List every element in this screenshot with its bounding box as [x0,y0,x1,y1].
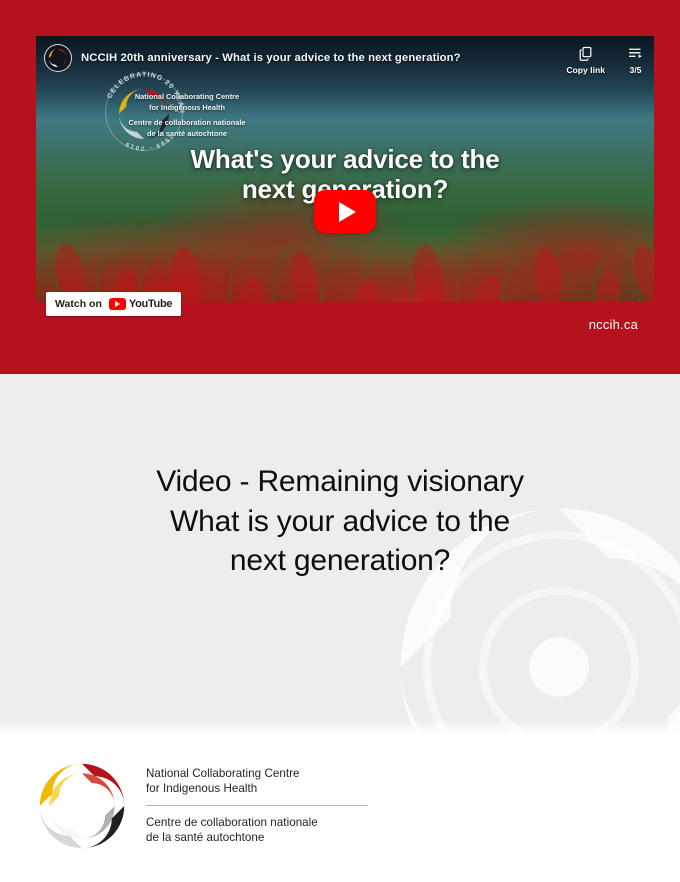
youtube-video-player[interactable]: CELEBRATING 20 YEARS 1999 - 2019 Nationa… [36,36,654,344]
footer-en-line1: National Collaborating Centre [146,766,368,781]
copy-link-button[interactable]: Copy link [566,45,605,75]
nccih-logo-icon [34,758,130,854]
player-actions: Copy link 3/5 [566,42,644,75]
playlist-count: 3/5 [630,65,642,75]
play-icon [339,202,356,222]
footer-fr-line1: Centre de collaboration nationale [146,815,368,830]
thumbnail-brand-en-line1: National Collaborating Centre [72,92,302,103]
thumbnail-brand-fr-line2: de la santé autochtone [72,129,302,140]
copy-link-label: Copy link [566,65,605,75]
body-bottom-fade [0,720,680,736]
play-button[interactable] [314,190,376,233]
watch-on-label: Watch on [55,298,102,310]
video-title[interactable]: NCCIH 20th anniversary - What is your ad… [81,52,556,64]
watch-on-youtube-button[interactable]: Watch on YouTube [46,292,181,316]
footer-en-line2: for Indigenous Health [146,781,368,796]
footer-brand-text: National Collaborating Centre for Indige… [146,758,368,845]
copy-icon [577,45,594,62]
footer-divider [146,805,368,806]
youtube-play-glyph [109,298,126,310]
thumbnail-brand-text: National Collaborating Centre for Indige… [72,92,302,140]
presentation-slide: CELEBRATING 20 YEARS 1999 - 2019 Nationa… [0,0,680,882]
channel-avatar[interactable] [44,44,72,72]
heading-line-2: What is your advice to the [58,502,622,542]
player-top-bar: NCCIH 20th anniversary - What is your ad… [36,36,654,80]
youtube-icon: YouTube [109,298,172,310]
page-title: Video - Remaining visionary What is your… [0,462,680,581]
heading-line-3: next generation? [58,541,622,581]
playlist-icon [627,45,644,62]
playlist-indicator[interactable]: 3/5 [627,45,644,75]
slide-body: Video - Remaining visionary What is your… [0,374,680,736]
youtube-label: YouTube [129,298,172,310]
thumbnail-brand-fr-line1: Centre de collaboration nationale [72,118,302,129]
heading-line-1: Video - Remaining visionary [58,462,622,502]
footer-fr-line2: de la santé autochtone [146,830,368,845]
slide-footer: National Collaborating Centre for Indige… [0,736,680,882]
nccih-url-watermark: nccih.ca [589,317,638,332]
nccih-logo-avatar-icon [47,47,69,69]
thumbnail-brand-en-line2: for Indigenous Health [72,103,302,114]
overlay-headline-line1: What's your advice to the [78,144,612,174]
